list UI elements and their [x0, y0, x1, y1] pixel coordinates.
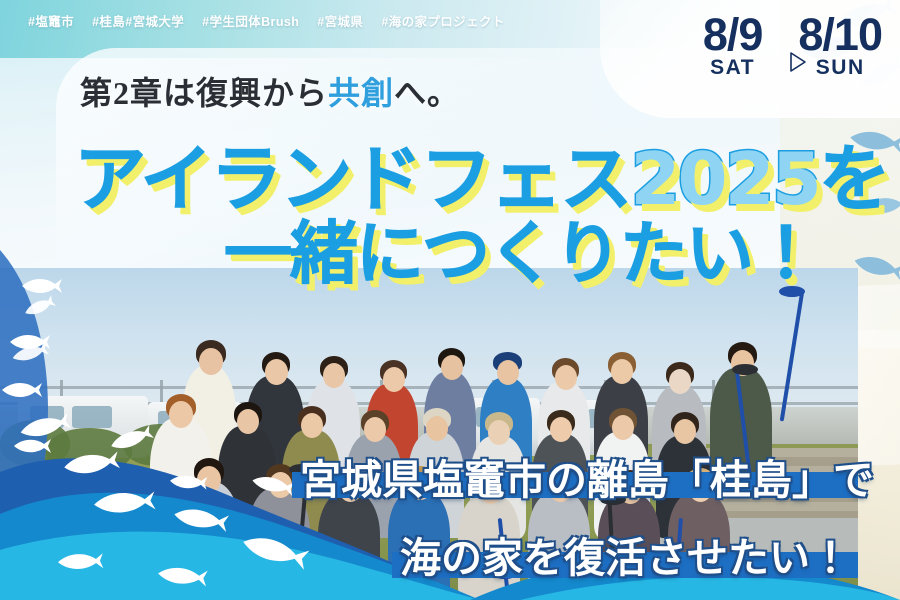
fish-icon [167, 473, 208, 492]
date-end-value: 8/10 [798, 14, 882, 55]
date-start-value: 8/9 [703, 14, 763, 55]
eyebrow-highlight: 共創 [328, 75, 394, 111]
fish-icon [56, 551, 105, 572]
eyebrow-suffix: へ。 [394, 75, 460, 111]
hashtag-item: #学生団体Brush [202, 11, 299, 30]
fish-icon [91, 488, 159, 518]
date-end-weekday: SUN [816, 58, 865, 77]
eyebrow-prefix: 第2章は復興から [80, 75, 328, 111]
main-headline-line-2: 一緒につくりたい！ [224, 198, 818, 297]
hashtag-item: #桂島 [92, 11, 125, 30]
date-end: 8/10 SUN [798, 14, 882, 78]
hashtag-item: #塩竈市 [28, 11, 74, 30]
banner-text-2: 海の家を復活させたい！ [400, 524, 851, 584]
event-poster: #塩竈市 #桂島#宮城大学 #学生団体Brush #宮城県 #海の家プロジェクト… [0, 0, 900, 600]
date-badge: 8/9 SAT 8/10 SUN [703, 14, 882, 78]
hashtag-item: #宮城県 [317, 11, 363, 30]
hashtag-group: #桂島#宮城大学 [92, 11, 184, 30]
hashtag-list: #塩竈市 #桂島#宮城大学 #学生団体Brush #宮城県 #海の家プロジェクト [28, 11, 505, 30]
banner-text-1: 宮城県塩竈市の離島「桂島」で [300, 446, 874, 506]
triangle-right-icon [772, 40, 788, 62]
hashtag-item: #海の家プロジェクト [381, 11, 504, 30]
hashtag-item: #宮城大学 [125, 11, 184, 30]
date-start-weekday: SAT [710, 58, 755, 77]
headline-particle: を [819, 137, 889, 221]
headline-line2-text: 一緒につくりたい！ [224, 215, 818, 294]
date-start: 8/9 SAT [703, 14, 763, 78]
eyebrow-headline: 第2章は復興から共創へ。 [80, 68, 460, 114]
